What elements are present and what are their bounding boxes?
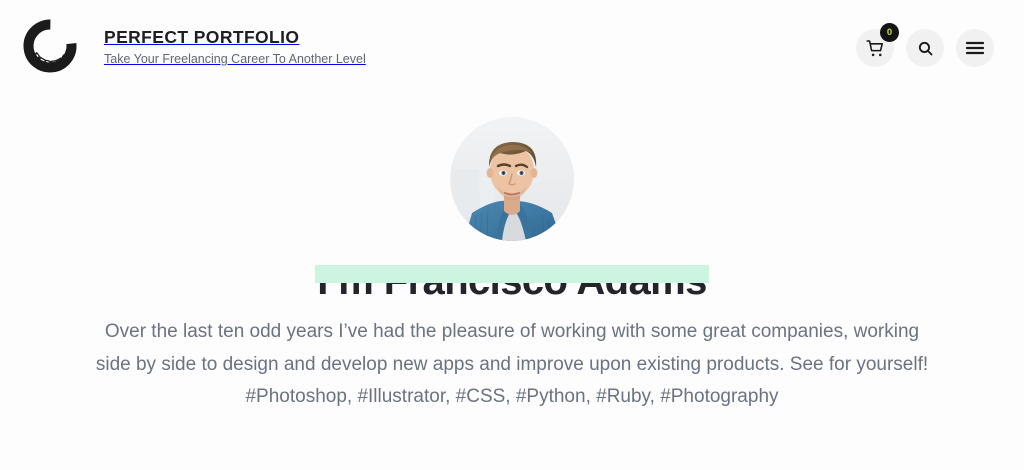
title-highlight-bar	[315, 265, 708, 283]
search-button[interactable]	[906, 29, 944, 67]
page-title: I’m Francisco Adams	[315, 258, 708, 304]
header-actions: 0	[856, 29, 994, 67]
menu-button[interactable]	[956, 29, 994, 67]
brand-text-block: PERFECT PORTFOLIO Take Your Freelancing …	[104, 27, 366, 69]
perfect-logo-icon: PERFECT	[14, 10, 90, 86]
shopping-cart-icon	[866, 39, 885, 58]
cart-button[interactable]: 0	[856, 29, 894, 67]
brand-logo-link[interactable]: PERFECT PERFECT PORTFOLIO Take Your Free…	[14, 10, 366, 86]
page-root: PERFECT PERFECT PORTFOLIO Take Your Free…	[0, 0, 1024, 470]
brand-title: PERFECT PORTFOLIO	[104, 27, 366, 49]
hero-skill-tags: #Photoshop, #Illustrator, #CSS, #Python,…	[92, 381, 932, 414]
cart-count-badge: 0	[880, 23, 899, 42]
avatar-wrapper	[0, 117, 1024, 241]
avatar	[450, 117, 574, 241]
brand-tagline: Take Your Freelancing Career To Another …	[104, 50, 366, 69]
hero-title-wrapper: I’m Francisco Adams	[0, 258, 1024, 304]
hamburger-menu-icon	[966, 41, 984, 55]
site-header: PERFECT PERFECT PORTFOLIO Take Your Free…	[0, 0, 1024, 96]
search-icon	[917, 40, 934, 57]
hero-description: Over the last ten odd years I’ve had the…	[92, 316, 932, 381]
hero-section: I’m Francisco Adams Over the last ten od…	[0, 96, 1024, 414]
